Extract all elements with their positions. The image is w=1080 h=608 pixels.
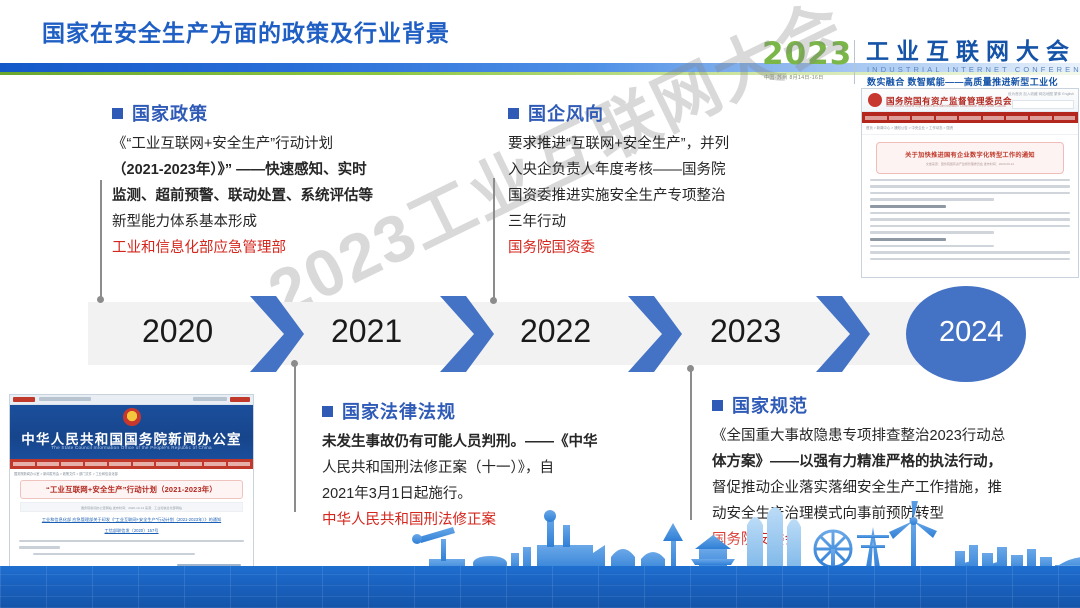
text-line (870, 192, 1070, 194)
block-line: 《“工业互联网+安全生产”行动计划 (112, 131, 512, 157)
section-heading-line (870, 238, 946, 241)
nav-item[interactable] (13, 462, 35, 466)
logo-year: 2023 (762, 38, 852, 70)
scio-logo-pill (13, 397, 35, 402)
text-line (33, 553, 195, 555)
scio-top-button[interactable] (230, 397, 250, 402)
block-title: 国家政策 (132, 100, 208, 126)
nav-item[interactable] (204, 462, 226, 466)
decor-city-skyline (395, 501, 1080, 575)
nav-item[interactable] (936, 116, 958, 120)
scio-top-links[interactable] (193, 397, 227, 401)
page-title: 国家在安全生产方面的政策及行业背景 (42, 14, 450, 48)
block-header: 国家规范 (712, 392, 1080, 418)
scio-article-body (10, 534, 253, 555)
block-line: 督促推动企业落实落细安全生产工作措施，推 (712, 475, 1080, 501)
connector-line-2020 (100, 180, 102, 302)
block-line: 国资委推进实施安全生产专项整治 (508, 183, 838, 209)
sasac-article-meta: 文章来源：国务院国有资产监督管理委员会 发布时间：2020-09-21 (926, 162, 1014, 166)
nav-item[interactable] (156, 462, 178, 466)
scio-article-title: “工业互联网+安全生产”行动计划（2021-2023年） (46, 484, 217, 495)
scio-article-meta: 国务院新闻办公室网站 发布时间：2020-10-14 来源：工业和信息化部网站 (20, 502, 243, 512)
sasac-header: 国务院国有资产监督管理委员会 State-owned Assets Superv… (862, 89, 1078, 112)
scio-top-text (39, 397, 91, 401)
scio-article-title-highlight: “工业互联网+安全生产”行动计划（2021-2023年） (20, 480, 243, 499)
text-line (870, 245, 994, 247)
nav-item[interactable] (1054, 116, 1076, 120)
national-emblem-icon (868, 93, 882, 107)
nav-item[interactable] (85, 462, 107, 466)
scio-breadcrumb: 国务院新闻办公室 > 新闻发布会 > 政策文件 > 部门文件 > 工业和信息化部 (10, 469, 253, 479)
block-line: 人民共和国刑法修正案（十一）》，自 (322, 455, 652, 481)
scio-site-name-en: The State Council Information Office of … (10, 445, 253, 450)
sasac-toolbar-links[interactable]: 设为首页 加入收藏 网站地图 繁体 English (1008, 92, 1074, 97)
text-line (870, 185, 1070, 187)
text-line (870, 231, 994, 233)
block-national-policy: 国家政策 《“工业互联网+安全生产”行动计划 （2021-2023年）》” ——… (112, 100, 512, 261)
text-line (870, 258, 1070, 260)
text-line (870, 225, 1070, 227)
text-line (19, 546, 60, 548)
connector-dot-2023 (687, 365, 694, 372)
national-emblem-icon (123, 408, 141, 426)
timeline-year-2020: 2020 (142, 313, 213, 350)
block-source: 国务院国资委 (508, 235, 838, 261)
text-line (870, 212, 1070, 214)
bullet-square-icon (712, 400, 723, 411)
timeline-year-2023: 2023 (710, 313, 781, 350)
logo-name-cn: 工业互联网大会 (866, 38, 1076, 64)
nav-item[interactable] (133, 462, 155, 466)
logo-name-en: INDUSTRIAL INTERNET CONFERENCE (867, 65, 1080, 74)
scio-banner: 中华人民共和国国务院新闻办公室 The State Council Inform… (10, 405, 253, 459)
block-header: 国企风向 (508, 100, 838, 126)
connector-line-2021 (294, 362, 296, 512)
nav-item[interactable] (109, 462, 131, 466)
nav-item[interactable] (912, 116, 934, 120)
block-title: 国家法律法规 (342, 398, 456, 424)
block-body: 要求推进“互联网+安全生产”，并列 入央企负责人年度考核——国务院 国资委推进实… (508, 131, 838, 235)
bullet-square-icon (322, 406, 333, 417)
block-soe-trend: 国企风向 要求推进“互联网+安全生产”，并列 入央企负责人年度考核——国务院 国… (508, 100, 838, 261)
decor-floor-grid (0, 566, 1080, 608)
logo-divider (854, 40, 855, 84)
sasac-search-input[interactable] (1012, 100, 1074, 109)
nav-item[interactable] (37, 462, 59, 466)
nav-item[interactable] (865, 116, 887, 120)
nav-item[interactable] (180, 462, 202, 466)
block-header: 国家政策 (112, 100, 512, 126)
nav-item[interactable] (959, 116, 981, 120)
connector-dot-2022 (490, 297, 497, 304)
nav-item[interactable] (889, 116, 911, 120)
sasac-article-title: 关于加快推进国有企业数字化转型工作的通知 (905, 150, 1035, 159)
block-line: 《全国重大事故隐患专项排查整治2023行动总 (712, 423, 1080, 449)
conference-logo: 2023 中国·苏州 8月14日-16日 工业互联网大会 INDUSTRIAL … (762, 38, 1074, 88)
connector-dot-2021 (291, 360, 298, 367)
block-source: 工业和信息化部应急管理部 (112, 235, 512, 261)
nav-item[interactable] (1006, 116, 1028, 120)
block-title: 国家规范 (732, 392, 808, 418)
nav-item[interactable] (983, 116, 1005, 120)
logo-year-subtitle: 中国·苏州 8月14日-16日 (764, 74, 824, 81)
nav-item[interactable] (228, 462, 250, 466)
block-line: 新型能力体系基本形成 (112, 209, 512, 235)
connector-line-2023 (690, 368, 692, 520)
scio-top-bar (10, 395, 253, 405)
bullet-square-icon (112, 108, 123, 119)
bullet-square-icon (508, 108, 519, 119)
timeline-chevron-4 (812, 296, 872, 372)
block-line: 体方案》——以强有力精准严格的执法行动， (712, 449, 1080, 475)
timeline-chevron-2 (436, 296, 496, 372)
timeline-year-2022: 2022 (520, 313, 591, 350)
block-line: 入央企负责人年度考核——国务院 (508, 157, 838, 183)
connector-dot-2020 (97, 296, 104, 303)
block-line: （2021-2023年）》” ——快速感知、实时 (112, 157, 512, 183)
block-title: 国企风向 (528, 100, 604, 126)
slide-canvas: 国家在安全生产方面的政策及行业背景 2023 中国·苏州 8月14日-16日 工… (0, 0, 1080, 608)
sasac-article-title-highlight: 关于加快推进国有企业数字化转型工作的通知 文章来源：国务院国有资产监督管理委员会… (876, 142, 1064, 174)
timeline-chevron-3 (624, 296, 684, 372)
timeline-year-2024: 2024 (939, 316, 1004, 349)
text-line (870, 251, 1070, 253)
sasac-article-body (862, 174, 1078, 260)
sasac-nav-bar[interactable] (862, 112, 1078, 123)
timeline-year-2021: 2021 (331, 313, 402, 350)
block-body: 《“工业互联网+安全生产”行动计划 （2021-2023年）》” ——快速感知、… (112, 131, 512, 235)
scio-nav-bar[interactable] (10, 459, 253, 469)
scio-article-link-1[interactable]: 工业和信息化部 应急管理部关于印发《“工业互联网+安全生产”行动计划（2021-… (10, 517, 253, 523)
block-line: 未发生事故仍有可能人员判刑。——《中华 (322, 429, 652, 455)
block-line: 三年行动 (508, 209, 838, 235)
block-line: 监测、超前预警、联动处置、系统评估等 (112, 183, 512, 209)
logo-slogan: 数实融合 数智赋能——高质量推进新型工业化 (867, 75, 1058, 88)
nav-item[interactable] (61, 462, 83, 466)
block-header: 国家法律法规 (322, 398, 652, 424)
block-line: 要求推进“互联网+安全生产”，并列 (508, 131, 838, 157)
nav-item[interactable] (1030, 116, 1052, 120)
screenshot-sasac-website: 国务院国有资产监督管理委员会 State-owned Assets Superv… (861, 88, 1079, 278)
text-line (870, 179, 1070, 181)
sasac-site-name-en: State-owned Assets Supervision and Admin… (886, 104, 1006, 108)
block-body: 未发生事故仍有可能人员判刑。——《中华 人民共和国刑法修正案（十一）》，自 20… (322, 429, 652, 507)
section-heading-line (870, 205, 946, 208)
text-line (870, 218, 1070, 220)
screenshot-scio-website: 中华人民共和国国务院新闻办公室 The State Council Inform… (9, 394, 254, 574)
text-line (19, 540, 244, 542)
text-line (870, 198, 994, 200)
sasac-breadcrumb: 首页 > 新闻中心 > 通知公告 > 中央企业 > 工作动态 > 国资 (862, 123, 1078, 135)
